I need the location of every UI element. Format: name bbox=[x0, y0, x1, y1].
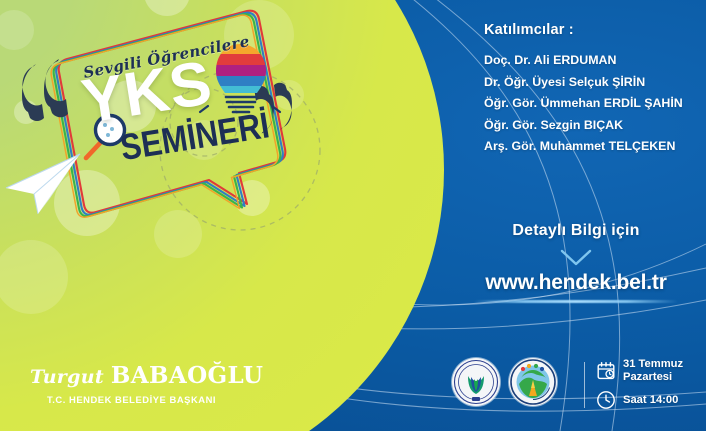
event-time: Saat 14:00 bbox=[623, 394, 678, 407]
event-date-day: 31 Temmuz bbox=[623, 358, 683, 371]
event-datetime: 31 Temmuz Pazartesi Saat 14:00 bbox=[596, 358, 683, 410]
poster-root: Sevgili Öğrencilere YKS SEMİNERİ Katılım… bbox=[0, 0, 706, 431]
mayor-last-name: BABAOĞLU bbox=[111, 362, 263, 389]
calendar-icon bbox=[596, 361, 616, 381]
clock-icon bbox=[596, 390, 616, 410]
event-time-row: Saat 14:00 bbox=[596, 390, 683, 410]
mayor-role: T.C. HENDEK BELEDİYE BAŞKANI bbox=[47, 394, 263, 405]
mayor-signature: Turgut BABAOĞLU T.C. HENDEK BELEDİYE BAŞ… bbox=[30, 362, 263, 405]
mayor-first-name: Turgut bbox=[30, 366, 104, 388]
university-seal-logo bbox=[452, 358, 500, 406]
chevron-down-icon bbox=[446, 248, 706, 268]
list-item: Öğr. Gör. Sezgin BIÇAK bbox=[484, 115, 683, 137]
list-item: Öğr. Gör. Ümmehan ERDİL ŞAHİN bbox=[484, 93, 683, 115]
quote-open-icon bbox=[22, 59, 68, 121]
website-url[interactable]: www.hendek.bel.tr bbox=[446, 271, 706, 295]
event-date-row: 31 Temmuz Pazartesi bbox=[596, 358, 683, 384]
participants-list: Doç. Dr. Ali ERDUMAN Dr. Öğr. Üyesi Selç… bbox=[484, 50, 683, 158]
list-item: Dr. Öğr. Üyesi Selçuk ŞİRİN bbox=[484, 72, 683, 94]
footer-logos bbox=[452, 358, 557, 406]
footer-divider bbox=[584, 362, 585, 408]
list-item: Doç. Dr. Ali ERDUMAN bbox=[484, 50, 683, 72]
website-underline bbox=[474, 300, 678, 303]
hendek-belediyesi-logo bbox=[509, 358, 557, 406]
paper-plane-icon bbox=[6, 154, 80, 214]
participants-title: Katılımcılar : bbox=[484, 22, 574, 38]
event-date-weekday: Pazartesi bbox=[623, 371, 683, 384]
details-heading: Detaylı Bilgi için bbox=[446, 222, 706, 240]
list-item: Arş. Gör. Muhammet TELÇEKEN bbox=[484, 136, 683, 158]
